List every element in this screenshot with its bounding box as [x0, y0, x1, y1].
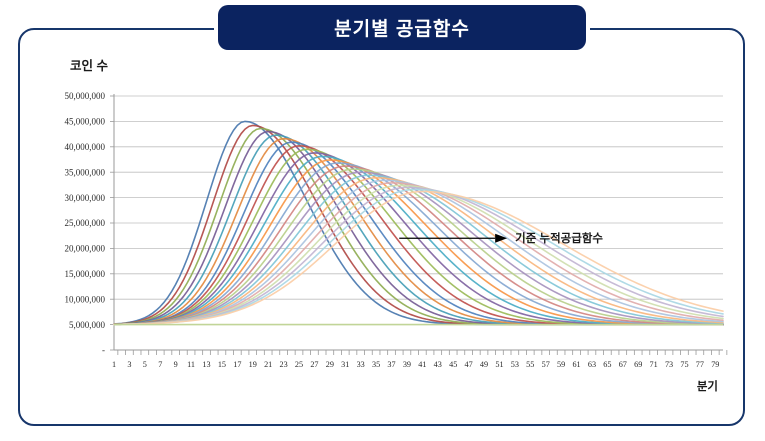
supply-function-chart: -5,000,00010,000,00015,000,00020,000,000…: [18, 28, 745, 426]
x-tick-label: 5: [143, 360, 147, 369]
x-tick-label: 65: [603, 360, 611, 369]
x-tick-label: 75: [680, 360, 688, 369]
y-tick-label: 50,000,000: [65, 91, 106, 101]
x-tick-labels: 1357911131517192123252729313335373941434…: [112, 350, 727, 369]
y-tick-label: -: [102, 345, 105, 355]
x-tick-label: 23: [280, 360, 288, 369]
x-tick-label: 11: [187, 360, 195, 369]
x-tick-label: 17: [233, 360, 241, 369]
x-tick-label: 29: [326, 360, 334, 369]
series-line: [114, 125, 723, 324]
x-tick-label: 71: [650, 360, 658, 369]
y-axis-title: 코인 수: [70, 58, 108, 73]
x-axis-title: 분기: [697, 379, 718, 393]
x-tick-label: 13: [202, 360, 210, 369]
y-tick-label: 15,000,000: [65, 269, 106, 279]
x-tick-label: 47: [465, 360, 473, 369]
y-tick-label: 10,000,000: [65, 294, 106, 304]
x-tick-label: 63: [588, 360, 596, 369]
y-tick-label: 25,000,000: [65, 218, 106, 228]
x-tick-label: 55: [526, 360, 534, 369]
x-tick-label: 59: [557, 360, 565, 369]
x-tick-label: 25: [295, 360, 303, 369]
page-title: 분기별 공급함수: [334, 14, 470, 41]
x-tick-label: 37: [387, 360, 395, 369]
x-tick-label: 57: [542, 360, 550, 369]
y-tick-label: 40,000,000: [65, 142, 106, 152]
y-tick-label: 5,000,000: [69, 320, 106, 330]
y-tick-label: 35,000,000: [65, 167, 106, 177]
x-tick-label: 79: [711, 360, 719, 369]
y-tick-label: 20,000,000: [65, 244, 106, 254]
x-tick-label: 49: [480, 360, 488, 369]
x-tick-label: 3: [127, 360, 131, 369]
x-tick-label: 1: [112, 360, 116, 369]
x-tick-label: 31: [341, 360, 349, 369]
x-tick-label: 43: [434, 360, 442, 369]
x-tick-label: 51: [495, 360, 503, 369]
y-tick-label: 30,000,000: [65, 193, 106, 203]
x-tick-label: 53: [511, 360, 519, 369]
x-tick-label: 41: [418, 360, 426, 369]
chart-page: -5,000,00010,000,00015,000,00020,000,000…: [0, 0, 765, 441]
title-banner: 분기별 공급함수: [218, 5, 586, 50]
y-tick-label: 45,000,000: [65, 117, 106, 127]
chart-area: -5,000,00010,000,00015,000,00020,000,000…: [18, 28, 745, 426]
annotation-label: 기준 누적공급함수: [515, 231, 603, 245]
x-tick-label: 15: [218, 360, 226, 369]
x-tick-label: 9: [174, 360, 178, 369]
y-tick-labels: -5,000,00010,000,00015,000,00020,000,000…: [65, 91, 106, 355]
x-tick-label: 67: [619, 360, 627, 369]
x-tick-label: 7: [158, 360, 162, 369]
x-tick-label: 69: [634, 360, 642, 369]
x-tick-label: 45: [449, 360, 457, 369]
x-tick-label: 73: [665, 360, 673, 369]
x-tick-label: 27: [310, 360, 318, 369]
x-tick-label: 35: [372, 360, 380, 369]
x-tick-label: 77: [696, 360, 704, 369]
x-tick-label: 39: [403, 360, 411, 369]
x-tick-label: 61: [572, 360, 580, 369]
x-tick-label: 21: [264, 360, 272, 369]
x-tick-label: 33: [357, 360, 365, 369]
x-tick-label: 19: [249, 360, 257, 369]
